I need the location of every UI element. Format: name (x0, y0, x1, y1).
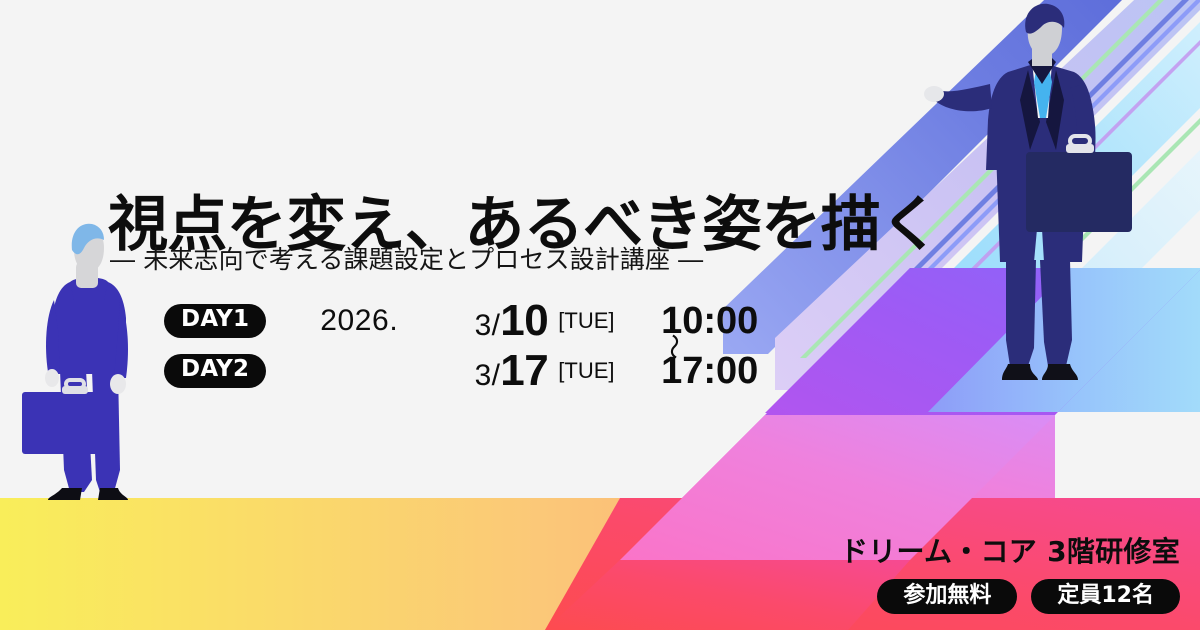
day1-day: 10 (500, 296, 548, 345)
seminar-banner: 視点を変え、あるべき姿を描く ― 未来志向で考える課題設定とプロセス設計講座 ―… (0, 0, 1200, 630)
content-layer: 視点を変え、あるべき姿を描く ― 未来志向で考える課題設定とプロセス設計講座 ―… (0, 0, 1200, 630)
day2-day: 17 (500, 346, 548, 395)
day1-weekday: [TUE] (548, 308, 628, 334)
venue-block: ドリーム・コア 3階研修室 参加無料 定員12名 (840, 530, 1180, 614)
schedule-block: DAY12026.3/10[TUE]10:00 〜 DAY23/17[TUE]1… (164, 296, 758, 392)
schedule-row-day1: DAY12026.3/10[TUE]10:00 〜 (164, 296, 758, 342)
day2-monthday: 3/17 (398, 346, 548, 396)
day2-weekday: [TUE] (548, 358, 628, 384)
day2-time: 17:00 (628, 350, 758, 393)
day1-month: 3/ (475, 309, 501, 342)
day1-badge: DAY1 (164, 304, 266, 337)
day1-year: 2026. (266, 304, 398, 338)
day2-badge: DAY2 (164, 354, 266, 387)
venue-tag-free: 参加無料 (877, 579, 1017, 614)
day2-month: 3/ (475, 359, 501, 392)
venue-tag-list: 参加無料 定員12名 (840, 579, 1180, 614)
schedule-row-day2: DAY23/17[TUE]17:00 (164, 346, 758, 392)
day1-monthday: 3/10 (398, 296, 548, 346)
venue-tag-capacity: 定員12名 (1031, 579, 1180, 614)
page-subtitle: ― 未来志向で考える課題設定とプロセス設計講座 ― (110, 240, 703, 276)
venue-name: ドリーム・コア 3階研修室 (840, 530, 1180, 570)
